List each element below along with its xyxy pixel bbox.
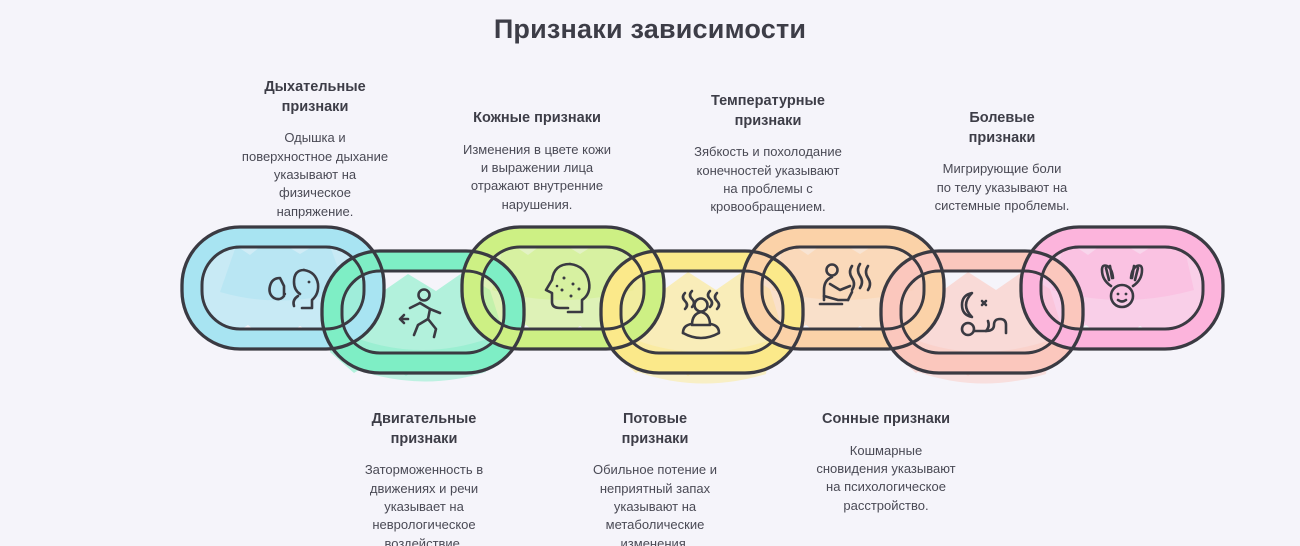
block-body: Зябкость и похолодание конечностей указы…	[676, 143, 860, 217]
block-heading: Дыхательные признаки	[225, 78, 405, 117]
link-band-6	[891, 261, 1073, 363]
link-band-7	[1031, 237, 1213, 339]
text-block-motor: Двигательные признаки Заторможенность в …	[333, 410, 515, 546]
text-block-sweat: Потовые признаки Обильное потение и непр…	[567, 410, 743, 546]
chain-link-5	[742, 227, 944, 349]
text-block-breathing: Дыхательные признаки Одышка и поверхност…	[225, 78, 405, 221]
moon-sleeper-icon	[962, 293, 1006, 335]
block-heading: Кожные признаки	[447, 109, 627, 129]
chain-link-4	[601, 251, 803, 373]
page-title: Признаки зависимости	[0, 14, 1300, 45]
headache-face-icon	[1102, 266, 1142, 308]
link-band-2	[332, 261, 514, 363]
infographic-page: Признаки зависимости Дыхательные признак…	[0, 0, 1300, 546]
block-heading: Температурные признаки	[676, 92, 860, 131]
link-band-3	[472, 237, 654, 339]
block-heading: Сонные признаки	[793, 410, 979, 430]
text-block-sleep: Сонные признаки Кошмарные сновидения ука…	[793, 410, 979, 515]
block-body: Изменения в цвете кожи и выражении лица …	[447, 141, 627, 215]
block-body: Мигрирующие боли по телу указывают на си…	[913, 160, 1091, 215]
chain-link-6	[881, 251, 1083, 373]
block-body: Одышка и поверхностное дыхание указывают…	[225, 129, 405, 221]
chain-link-outlines	[182, 227, 1223, 373]
block-body: Кошмарные сновидения указывают на психол…	[793, 442, 979, 516]
spotted-face-icon	[546, 264, 589, 312]
sweating-person-icon	[683, 291, 719, 338]
chain-link-3	[462, 227, 664, 349]
link-band-4	[611, 261, 793, 363]
chain-highlight-strokes	[198, 235, 1206, 383]
link-band-5	[752, 237, 934, 339]
link-band-1	[192, 237, 374, 339]
block-body: Заторможенность в движениях и речи указы…	[333, 461, 515, 546]
chain-color-bands	[192, 237, 1213, 363]
block-heading: Двигательные признаки	[333, 410, 515, 449]
chain-link-1	[182, 227, 384, 349]
block-heading: Потовые признаки	[567, 410, 743, 449]
running-person-icon	[400, 290, 440, 338]
breathing-face-icon	[270, 270, 319, 308]
text-block-pain: Болевые признаки Мигрирующие боли по тел…	[913, 109, 1091, 215]
text-block-temperature: Температурные признаки Зябкость и похоло…	[676, 92, 860, 217]
chain-link-2	[322, 251, 524, 373]
shivering-person-icon	[820, 264, 870, 304]
chain-icons	[270, 264, 1143, 338]
block-body: Обильное потение и неприятный запах указ…	[567, 461, 743, 546]
chain-link-7	[1021, 227, 1223, 349]
block-heading: Болевые признаки	[913, 109, 1091, 148]
text-block-skin: Кожные признаки Изменения в цвете кожи и…	[447, 109, 627, 214]
